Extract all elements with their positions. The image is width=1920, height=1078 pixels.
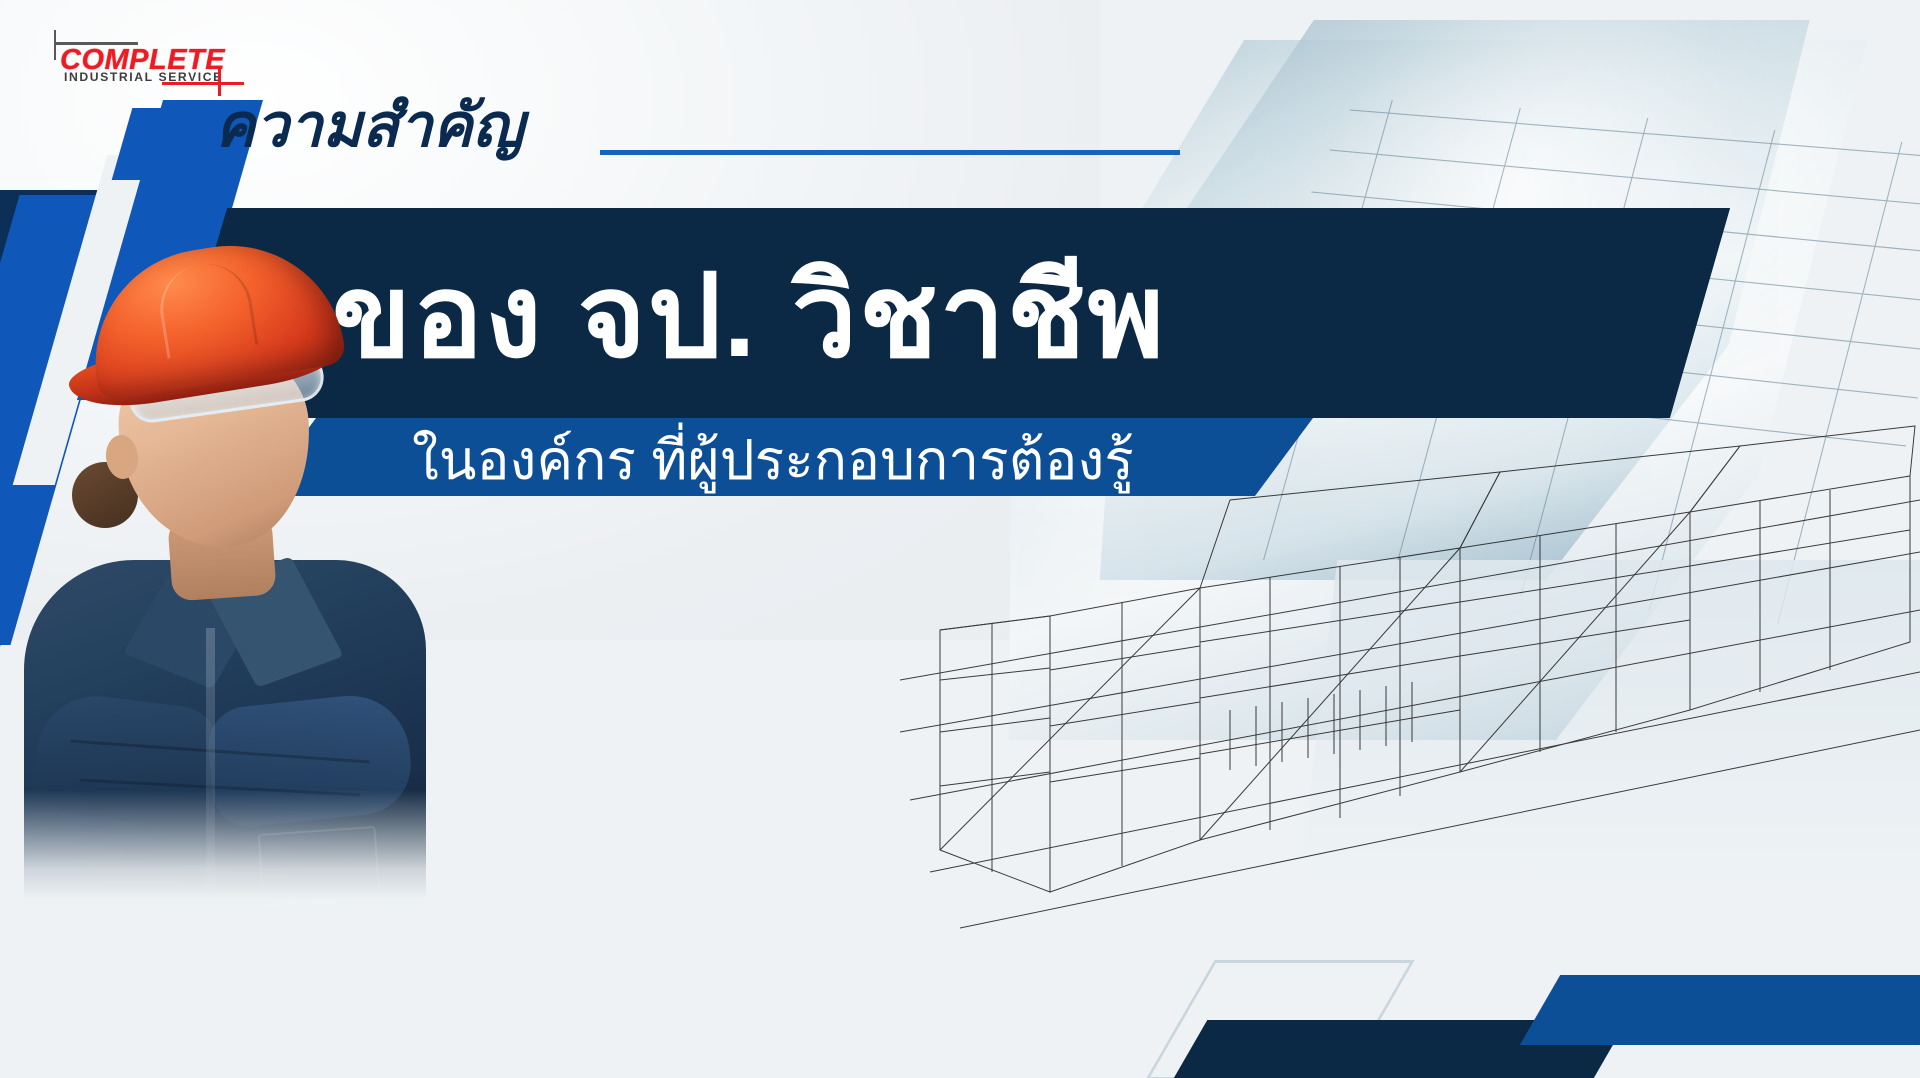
brand-logo[interactable]: COMPLETE INDUSTRIAL SERVICE bbox=[22, 18, 282, 94]
crosshair-top-vertical-icon bbox=[54, 30, 56, 60]
page-subtitle: ในองค์กร ที่ผู้ประกอบการต้องรู้ bbox=[412, 430, 1412, 491]
hero-banner: COMPLETE INDUSTRIAL SERVICE ความสำคัญ ขอ… bbox=[0, 0, 1920, 1078]
corner-band-blue bbox=[1520, 975, 1920, 1045]
eyebrow-rule bbox=[600, 150, 1180, 155]
photo-bottom-fade bbox=[10, 790, 440, 900]
page-title: ของ จป. วิชาชีพ bbox=[332, 252, 1432, 382]
eyebrow-heading: ความสำคัญ bbox=[215, 96, 524, 156]
crosshair-bottom-horizontal-icon bbox=[162, 82, 244, 85]
safety-officer-photo bbox=[10, 230, 440, 890]
